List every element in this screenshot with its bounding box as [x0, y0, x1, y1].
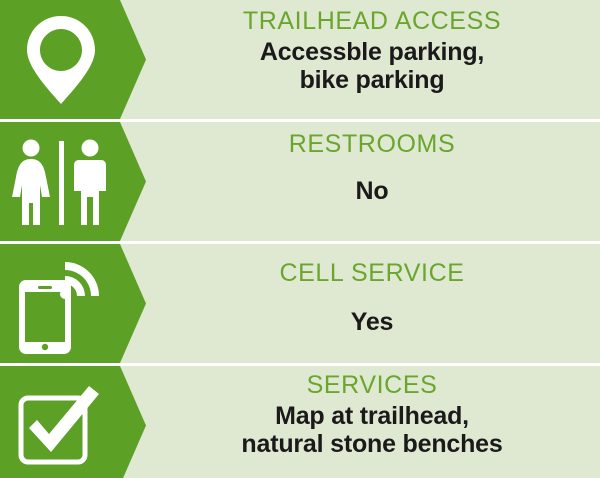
info-row-restrooms: RESTROOMS No [0, 122, 600, 241]
row-heading: TRAILHEAD ACCESS [243, 8, 501, 36]
checkbox-check-icon [0, 366, 122, 478]
row-value: Yes [351, 308, 394, 337]
row-value-line: bike parking [260, 66, 484, 95]
content-trailhead-access: TRAILHEAD ACCESS Accessble parking, bike… [152, 0, 592, 119]
restrooms-icon [0, 122, 122, 241]
icon-panel-cell-service [0, 244, 147, 363]
info-row-cell-service: CELL SERVICE Yes [0, 244, 600, 363]
content-cell-service: CELL SERVICE Yes [152, 244, 592, 363]
row-value: Accessble parking, bike parking [260, 38, 484, 95]
row-value-line: Map at trailhead, [241, 402, 502, 431]
row-value-line: Accessble parking, [260, 38, 484, 67]
row-heading: CELL SERVICE [279, 260, 464, 288]
row-value-line: No [356, 177, 389, 206]
row-value-line: natural stone benches [241, 430, 502, 459]
row-value: Map at trailhead, natural stone benches [241, 402, 502, 459]
row-heading: RESTROOMS [289, 131, 456, 159]
map-pin-icon [0, 0, 122, 119]
info-row-trailhead-access: TRAILHEAD ACCESS Accessble parking, bike… [0, 0, 600, 119]
content-services: SERVICES Map at trailhead, natural stone… [152, 366, 592, 478]
icon-panel-services [0, 366, 147, 478]
icon-panel-restrooms [0, 122, 147, 241]
icon-panel-trailhead-access [0, 0, 147, 119]
trail-amenities-infographic: TRAILHEAD ACCESS Accessble parking, bike… [0, 0, 600, 478]
content-restrooms: RESTROOMS No [152, 122, 592, 241]
cell-signal-phone-icon [0, 244, 122, 363]
row-value: No [356, 177, 389, 206]
row-heading: SERVICES [307, 372, 438, 400]
info-row-services: SERVICES Map at trailhead, natural stone… [0, 366, 600, 478]
row-value-line: Yes [351, 308, 394, 337]
